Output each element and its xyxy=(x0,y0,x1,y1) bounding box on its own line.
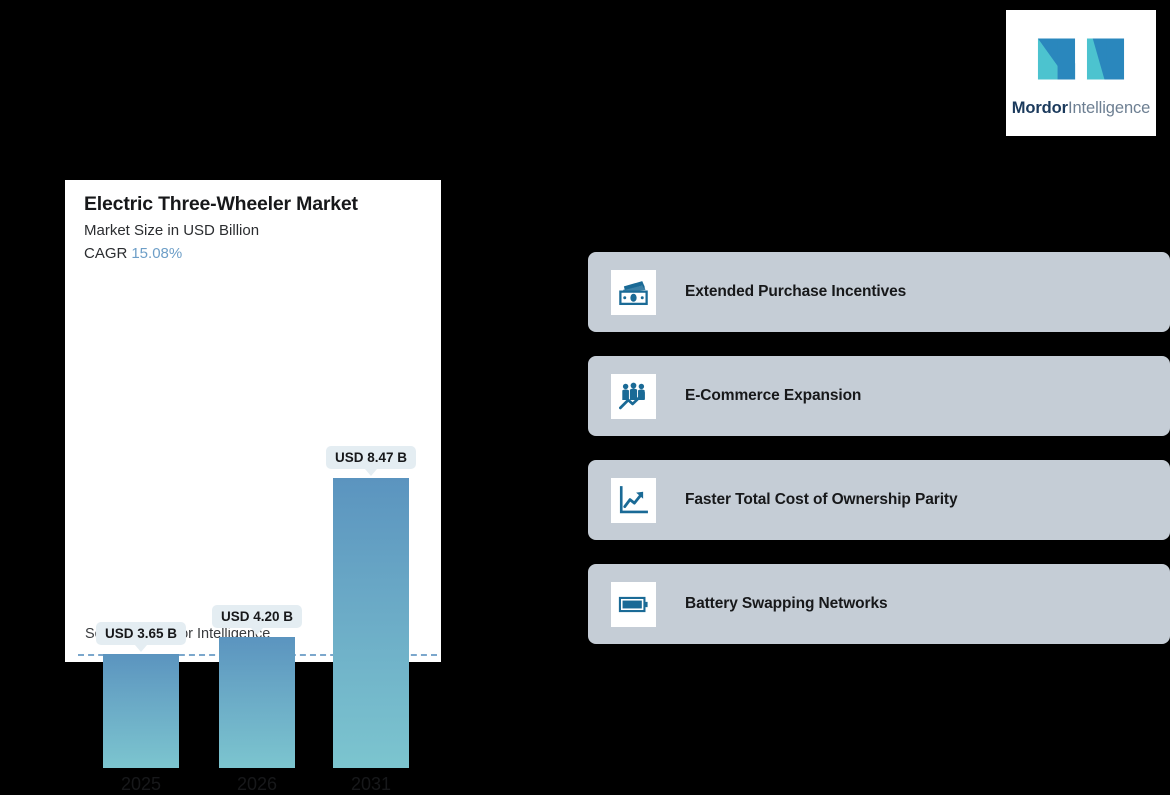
chart-panel: Electric Three-Wheeler Market Market Siz… xyxy=(65,180,441,662)
chart-cagr-row: CAGR15.08% xyxy=(84,245,441,263)
bar-value-label-2031: USD 8.47 B xyxy=(326,446,416,469)
driver-card-battery-swapping-networks[interactable]: Battery Swapping Networks xyxy=(588,564,1170,644)
bar-group-2031: USD 8.47 B 2031 xyxy=(333,478,409,768)
chart-title: Electric Three-Wheeler Market xyxy=(84,193,441,216)
bar-2031[interactable]: USD 8.47 B xyxy=(333,478,409,768)
mordor-intelligence-logo: MordorIntelligence xyxy=(1006,10,1156,136)
battery-icon xyxy=(611,582,656,627)
logo-word-intelligence: Intelligence xyxy=(1068,99,1150,117)
cash-icon xyxy=(611,270,656,315)
bar-group-2025: USD 3.65 B 2025 xyxy=(103,654,179,768)
cagr-value: 15.08% xyxy=(131,245,182,262)
bar-category-2025: 2025 xyxy=(103,774,179,795)
chart-subtitle: Market Size in USD Billion xyxy=(84,222,441,240)
bar-2025[interactable]: USD 3.65 B xyxy=(103,654,179,768)
driver-card-label: E-Commerce Expansion xyxy=(685,387,861,405)
driver-card-e-commerce-expansion[interactable]: E-Commerce Expansion xyxy=(588,356,1170,436)
mordor-logo-mark xyxy=(1036,28,1126,90)
logo-wordmark: MordorIntelligence xyxy=(1012,99,1151,118)
chart-plot-area: USD 3.65 B 2025 USD 4.20 B 2026 USD 8.47… xyxy=(65,442,441,614)
people-growth-chart-icon xyxy=(611,374,656,419)
driver-card-faster-total-cost-of-ownership-parity[interactable]: Faster Total Cost of Ownership Parity xyxy=(588,460,1170,540)
driver-card-label: Extended Purchase Incentives xyxy=(685,283,906,301)
line-chart-arrow-icon xyxy=(611,478,656,523)
bar-series: USD 3.65 B 2025 USD 4.20 B 2026 USD 8.47… xyxy=(65,442,441,788)
bar-value-label-2025: USD 3.65 B xyxy=(96,622,186,645)
cagr-label: CAGR xyxy=(84,245,127,262)
chart-header: Electric Three-Wheeler Market Market Siz… xyxy=(65,180,441,263)
bar-2026[interactable]: USD 4.20 B xyxy=(219,637,295,768)
bar-value-label-2026: USD 4.20 B xyxy=(212,605,302,628)
bar-category-2031: 2031 xyxy=(333,774,409,795)
bar-group-2026: USD 4.20 B 2026 xyxy=(219,637,295,768)
logo-word-mordor: Mordor xyxy=(1012,99,1068,117)
driver-card-label: Battery Swapping Networks xyxy=(685,595,888,613)
driver-card-label: Faster Total Cost of Ownership Parity xyxy=(685,491,957,509)
driver-card-extended-purchase-incentives[interactable]: Extended Purchase Incentives xyxy=(588,252,1170,332)
plot-inner: USD 3.65 B 2025 USD 4.20 B 2026 USD 8.47… xyxy=(65,442,441,788)
bar-category-2026: 2026 xyxy=(219,774,295,795)
